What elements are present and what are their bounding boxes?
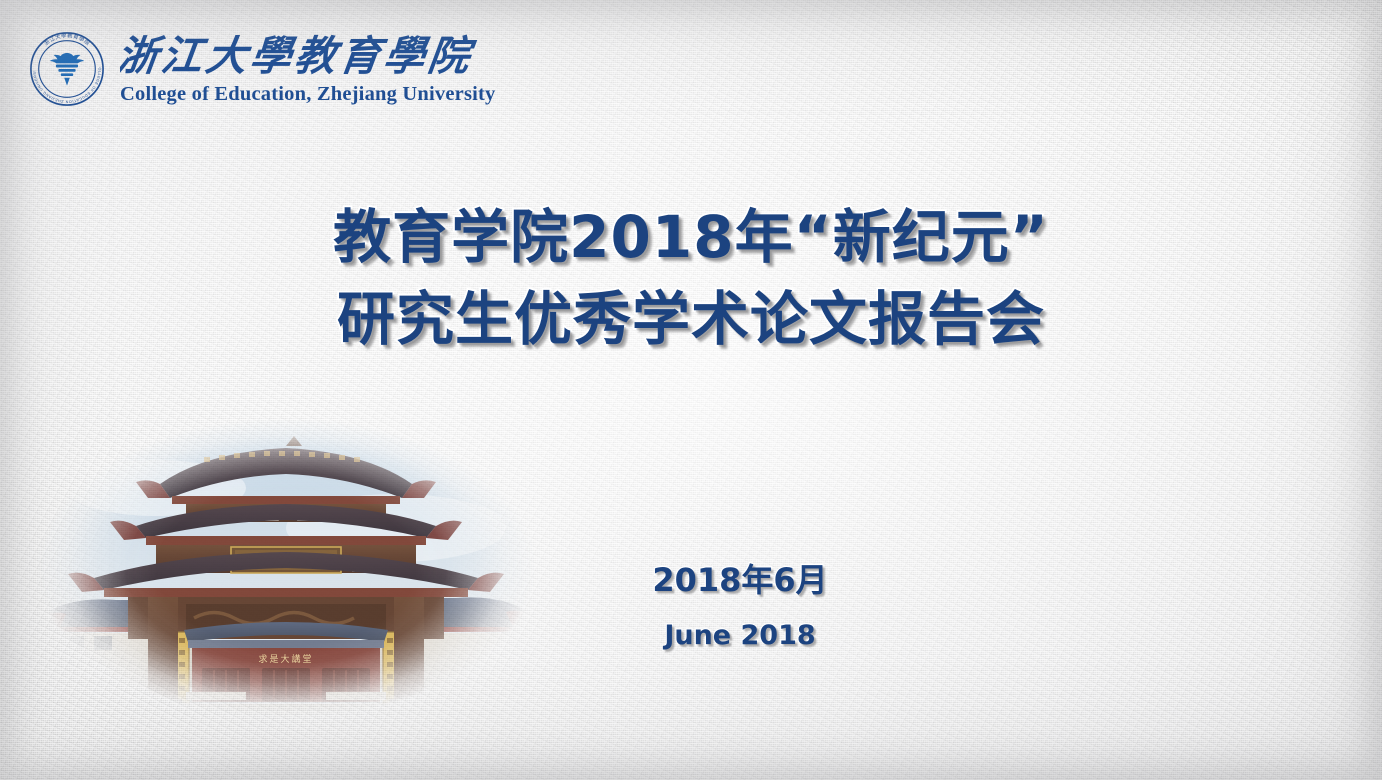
university-emblem-icon: 浙江大學教育學院 COLLEGE OF EDUCATION ZHEJIANG U… — [26, 28, 108, 110]
archway-hall-sign-text: 求是大講堂 — [258, 653, 313, 664]
brand-lockup: 浙江大學教育學院 COLLEGE OF EDUCATION ZHEJIANG U… — [26, 28, 496, 110]
brand-name-cn-text: 浙江大學教育學院 — [120, 31, 479, 80]
presentation-slide: 浙江大學教育學院 COLLEGE OF EDUCATION ZHEJIANG U… — [0, 0, 1382, 780]
archway-illustration: 求是書院 — [36, 418, 536, 718]
brand-name-cn-calligraphy: 浙江大學教育學院 — [120, 30, 488, 82]
archway-photo: 求是書院 — [36, 418, 536, 718]
brand-name-en: College of Education, Zhejiang Universit… — [120, 84, 496, 106]
brand-text-block: 浙江大學教育學院 College of Education, Zhejiang … — [120, 30, 496, 108]
